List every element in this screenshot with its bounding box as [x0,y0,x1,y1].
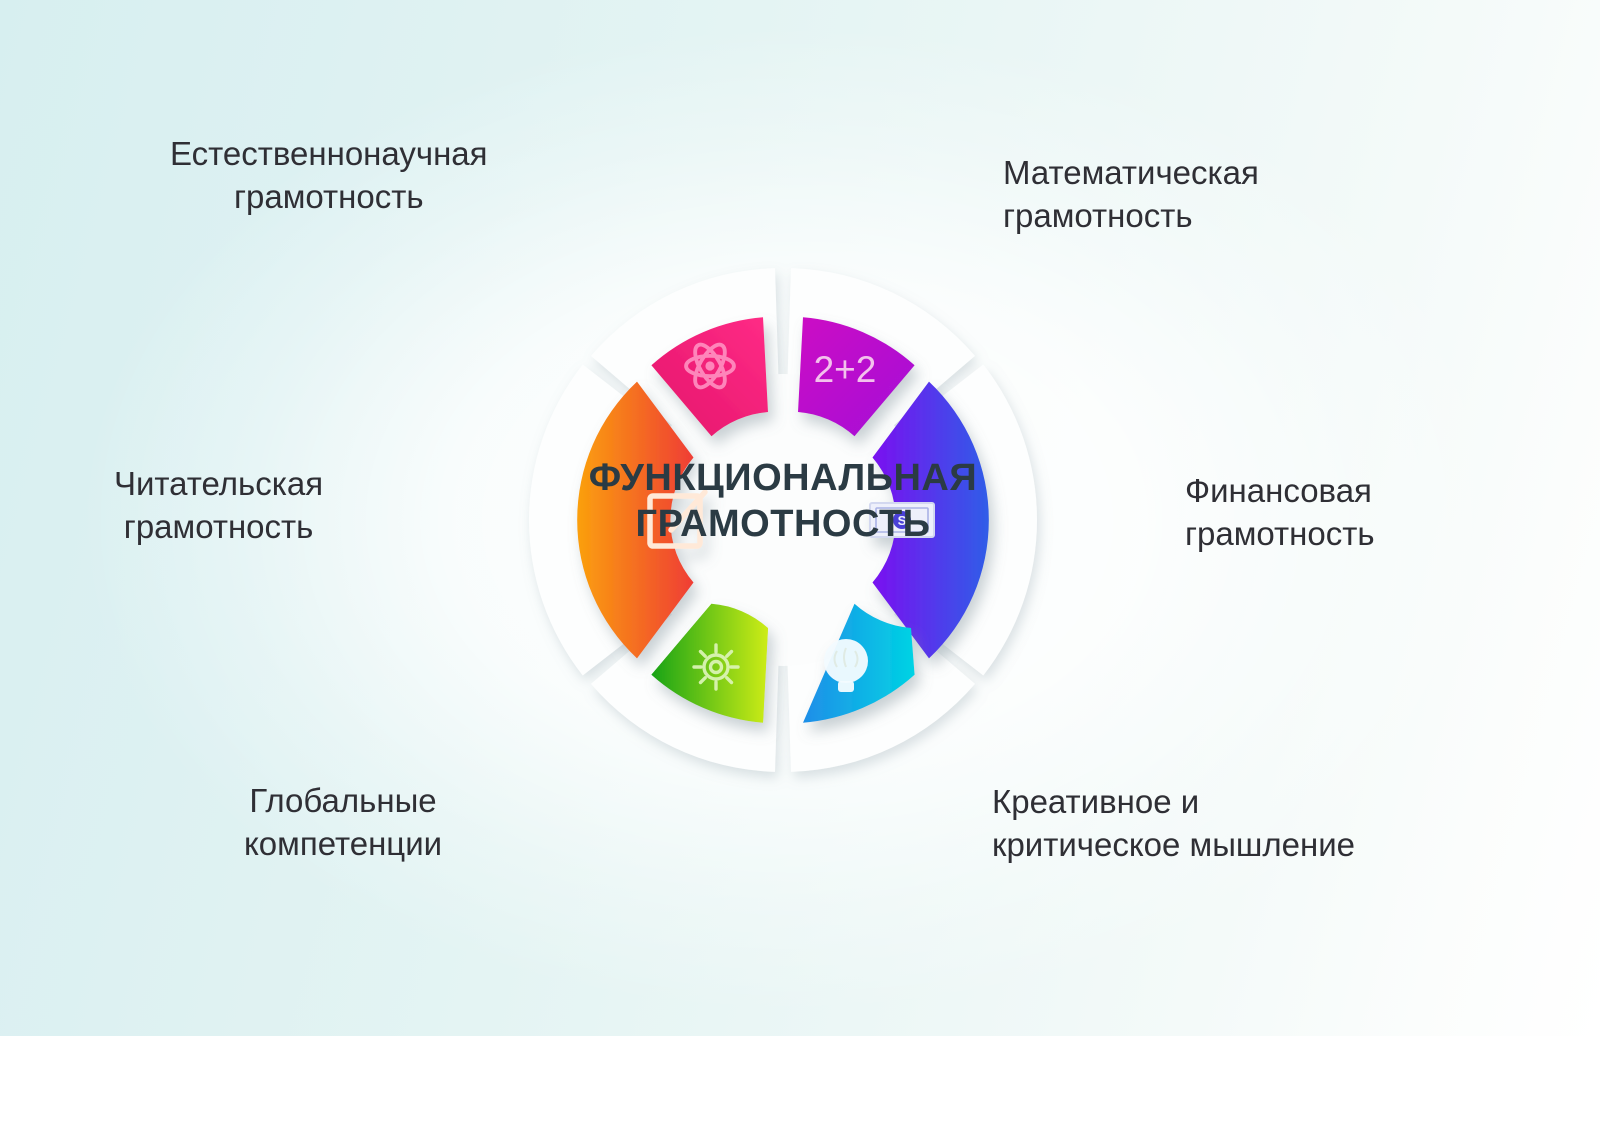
label-science-line2: грамотность [170,176,488,219]
label-finance: Финансовая грамотность [1185,470,1375,556]
label-reading-line1: Читательская [114,463,323,506]
bottom-white-band [0,1036,1600,1131]
label-math-line1: Математическая [1003,152,1259,195]
label-global: Глобальные компетенции [244,780,442,866]
label-math: Математическая грамотность [1003,152,1259,238]
infographic-canvas: 2+2 S [0,0,1600,1131]
label-reading-line2: грамотность [114,506,323,549]
svg-text:S: S [898,513,907,528]
two-plus-two-text: 2+2 [814,349,877,390]
label-math-line2: грамотность [1003,195,1259,238]
label-science: Естественнонаучная грамотность [170,133,488,219]
banknote-icon: S [870,503,934,537]
label-global-line1: Глобальные [244,780,442,823]
label-finance-line2: грамотность [1185,513,1375,556]
label-critical-line1: Креативное и [992,781,1355,824]
label-critical-line2: критическое мышление [992,824,1355,867]
label-global-line2: компетенции [244,823,442,866]
label-critical: Креативное и критическое мышление [992,781,1355,867]
label-reading: Читательская грамотность [114,463,323,549]
label-science-line1: Естественнонаучная [170,133,488,176]
label-finance-line1: Финансовая [1185,470,1375,513]
